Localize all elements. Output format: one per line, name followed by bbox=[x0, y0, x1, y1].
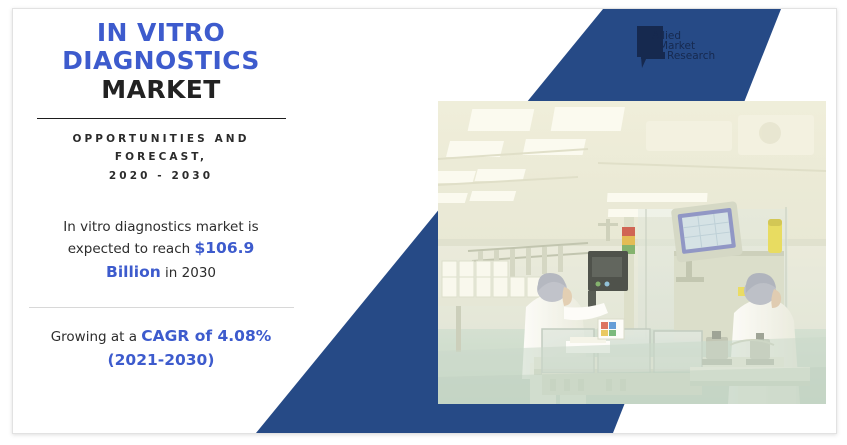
logo-line-3: Research bbox=[667, 50, 715, 62]
market-size-statement: In vitro diagnostics market is expected … bbox=[21, 217, 301, 285]
subtitle-line-3: 2020 - 2030 bbox=[21, 167, 301, 186]
cagr-statement: Growing at a CAGR of 4.08% (2021-2030) bbox=[21, 325, 301, 372]
title-line-2: DIAGNOSTICS bbox=[25, 47, 297, 75]
subtitle-line-1: OPPORTUNITIES AND bbox=[21, 130, 301, 149]
divider-dark bbox=[37, 118, 286, 119]
allied-market-research-logo: Allied Market Research bbox=[633, 24, 725, 72]
report-subtitle: OPPORTUNITIES AND FORECAST, 2020 - 2030 bbox=[21, 130, 301, 186]
title-line-1: IN VITRO bbox=[25, 19, 297, 47]
left-content-column: IN VITRO DIAGNOSTICS MARKET OPPORTUNITIE… bbox=[21, 19, 301, 372]
report-card: Allied Market Research IN VITRO DIAGNOST… bbox=[12, 8, 837, 434]
page-title: IN VITRO DIAGNOSTICS MARKET bbox=[21, 19, 301, 104]
subtitle-line-2: FORECAST, bbox=[21, 148, 301, 167]
cleanroom-photo bbox=[438, 101, 826, 404]
divider-light bbox=[29, 307, 294, 308]
title-line-3: MARKET bbox=[25, 76, 297, 104]
cagr-prefix: Growing at a bbox=[51, 329, 142, 345]
market-size-suffix: in 2030 bbox=[161, 265, 216, 281]
infographic-root: Allied Market Research IN VITRO DIAGNOST… bbox=[0, 0, 847, 445]
